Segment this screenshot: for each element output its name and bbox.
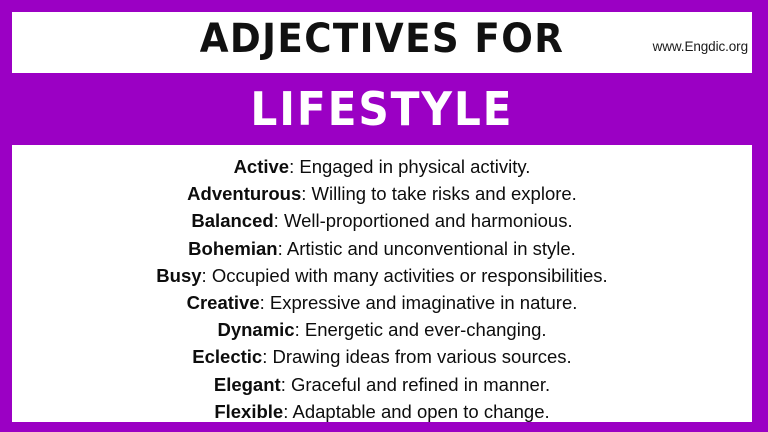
term-separator: :	[274, 210, 284, 231]
page-title: ADJECTIVES FOR	[38, 14, 726, 64]
term-separator: :	[278, 238, 287, 259]
topic-banner: LIFESTYLE	[12, 73, 752, 145]
list-item: Bohemian: Artistic and unconventional in…	[12, 235, 752, 262]
adjective-term: Active	[234, 156, 290, 177]
poster-purple-frame: ADJECTIVES FOR www.Engdic.org LIFESTYLE …	[0, 0, 768, 432]
adjective-definition: Graceful and refined in manner.	[291, 374, 550, 395]
term-separator: :	[262, 346, 272, 367]
list-item: Adventurous: Willing to take risks and e…	[12, 180, 752, 207]
list-item: Active: Engaged in physical activity.	[12, 153, 752, 180]
adjective-term: Dynamic	[217, 319, 294, 340]
topic-title: LIFESTYLE	[251, 82, 514, 136]
adjective-definition: Drawing ideas from various sources.	[273, 346, 572, 367]
adjective-definition: Adaptable and open to change.	[292, 401, 549, 422]
site-url-label: www.Engdic.org	[653, 39, 748, 55]
adjective-term: Flexible	[214, 401, 283, 422]
adjective-definition: Willing to take risks and explore.	[312, 183, 577, 204]
term-separator: :	[301, 183, 311, 204]
adjective-term: Elegant	[214, 374, 281, 395]
list-item: Dynamic: Energetic and ever-changing.	[12, 316, 752, 343]
list-item: Elegant: Graceful and refined in manner.	[12, 371, 752, 398]
list-item: Eclectic: Drawing ideas from various sou…	[12, 343, 752, 370]
adjective-term: Creative	[187, 292, 260, 313]
adjective-definition: Occupied with many activities or respons…	[212, 265, 608, 286]
adjective-definition: Expressive and imaginative in nature.	[270, 292, 577, 313]
adjective-term: Bohemian	[188, 238, 277, 259]
adjective-definition: Artistic and unconventional in style.	[287, 238, 576, 259]
poster-content-area: ADJECTIVES FOR www.Engdic.org LIFESTYLE …	[12, 12, 752, 422]
list-item: Balanced: Well-proportioned and harmonio…	[12, 207, 752, 234]
adjective-list: Active: Engaged in physical activity. Ad…	[12, 145, 752, 422]
list-item: Flexible: Adaptable and open to change.	[12, 398, 752, 422]
adjective-term: Busy	[156, 265, 201, 286]
adjective-definition: Well-proportioned and harmonious.	[284, 210, 573, 231]
adjective-term: Eclectic	[192, 346, 262, 367]
list-item: Busy: Occupied with many activities or r…	[12, 262, 752, 289]
adjective-definition: Energetic and ever-changing.	[305, 319, 547, 340]
term-separator: :	[260, 292, 270, 313]
adjective-term: Adventurous	[187, 183, 301, 204]
term-separator: :	[281, 374, 291, 395]
adjective-definition: Engaged in physical activity.	[299, 156, 530, 177]
list-item: Creative: Expressive and imaginative in …	[12, 289, 752, 316]
header: ADJECTIVES FOR www.Engdic.org	[12, 12, 752, 73]
term-separator: :	[289, 156, 299, 177]
term-separator: :	[202, 265, 212, 286]
adjective-term: Balanced	[191, 210, 273, 231]
term-separator: :	[295, 319, 305, 340]
